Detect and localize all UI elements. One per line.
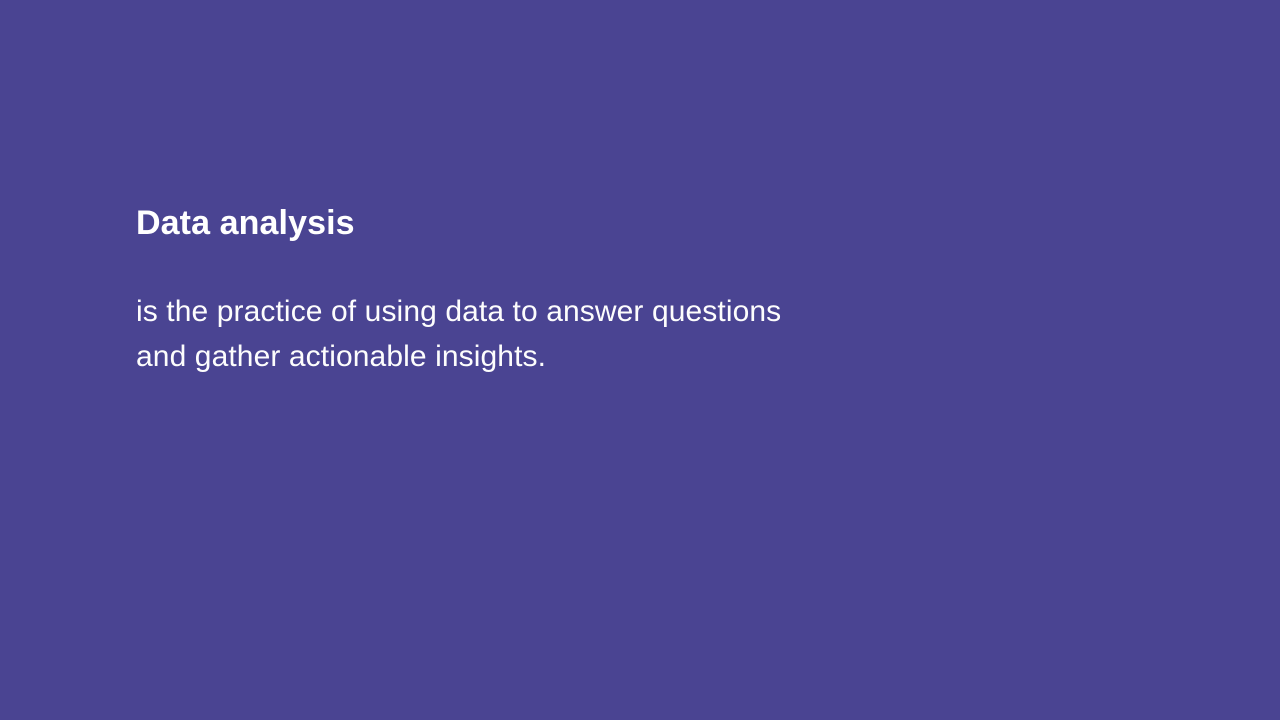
slide-heading: Data analysis [136, 200, 1036, 246]
slide-canvas: Data analysis is the practice of using d… [0, 0, 1280, 720]
slide-body-text: is the practice of using data to answer … [136, 246, 1036, 379]
text-content-block: Data analysis is the practice of using d… [136, 200, 1036, 379]
